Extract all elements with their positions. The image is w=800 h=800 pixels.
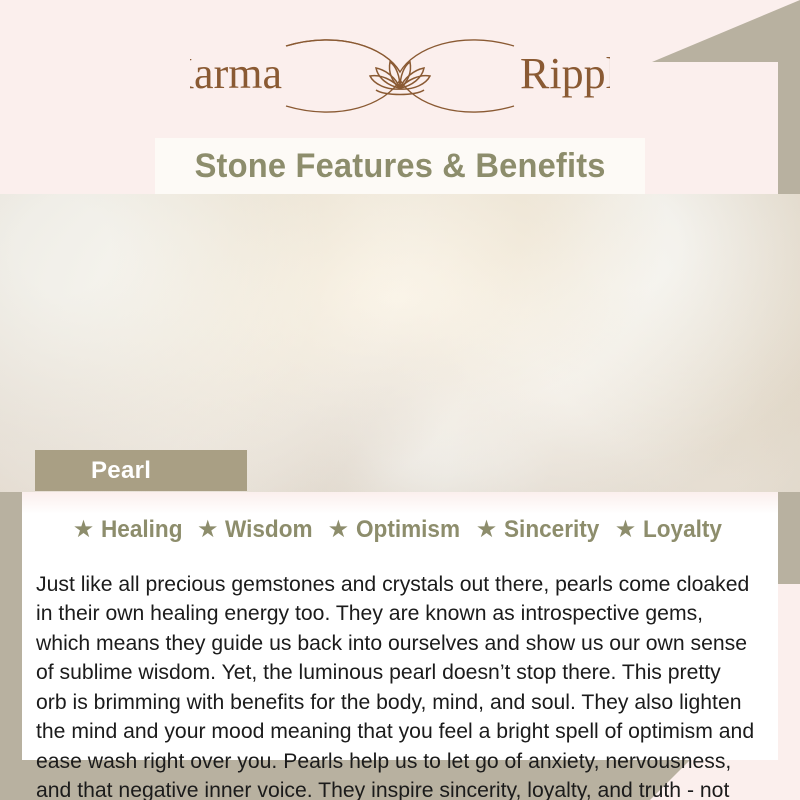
star-icon: ★: [73, 518, 95, 542]
pearl-photo: [0, 194, 800, 492]
lotus-icon: Karma Ripple: [190, 32, 610, 120]
stone-description-text: Just like all precious gemstones and cry…: [36, 570, 755, 800]
panel-top-fade: [22, 492, 778, 514]
star-icon: ★: [615, 518, 637, 542]
page-title: Stone Features & Benefits: [194, 147, 605, 186]
star-icon: ★: [476, 518, 498, 542]
frame-edge-right-lower: [778, 584, 800, 800]
keyword-item: ★ Healing: [73, 516, 188, 544]
brand-name-left: Karma: [190, 49, 282, 98]
keyword-label: Wisdom: [225, 516, 313, 544]
brand-logo: Karma Ripple: [0, 30, 800, 122]
section-title-banner: Stone Features & Benefits: [155, 138, 645, 194]
star-icon: ★: [328, 518, 350, 542]
keyword-label: Optimism: [356, 516, 460, 544]
stone-name-label: Pearl: [91, 457, 151, 485]
benefit-keywords-row: ★ Healing ★ Wisdom ★ Optimism ★ Sincerit…: [22, 516, 778, 544]
keyword-item: ★ Loyalty: [615, 516, 728, 544]
pearl-photo-shading: [0, 194, 800, 492]
keyword-item: ★ Optimism: [328, 516, 467, 544]
brand-name-right: Ripple: [520, 49, 610, 98]
star-icon: ★: [197, 518, 219, 542]
keyword-item: ★ Sincerity: [476, 516, 606, 544]
stone-benefits-poster: Karma Ripple Stone Features & Benefits P…: [0, 0, 800, 800]
stone-name-band: Pearl: [35, 450, 247, 491]
keyword-label: Loyalty: [643, 516, 722, 544]
keyword-label: Healing: [101, 516, 182, 544]
keyword-label: Sincerity: [504, 516, 599, 544]
keyword-item: ★ Wisdom: [197, 516, 319, 544]
